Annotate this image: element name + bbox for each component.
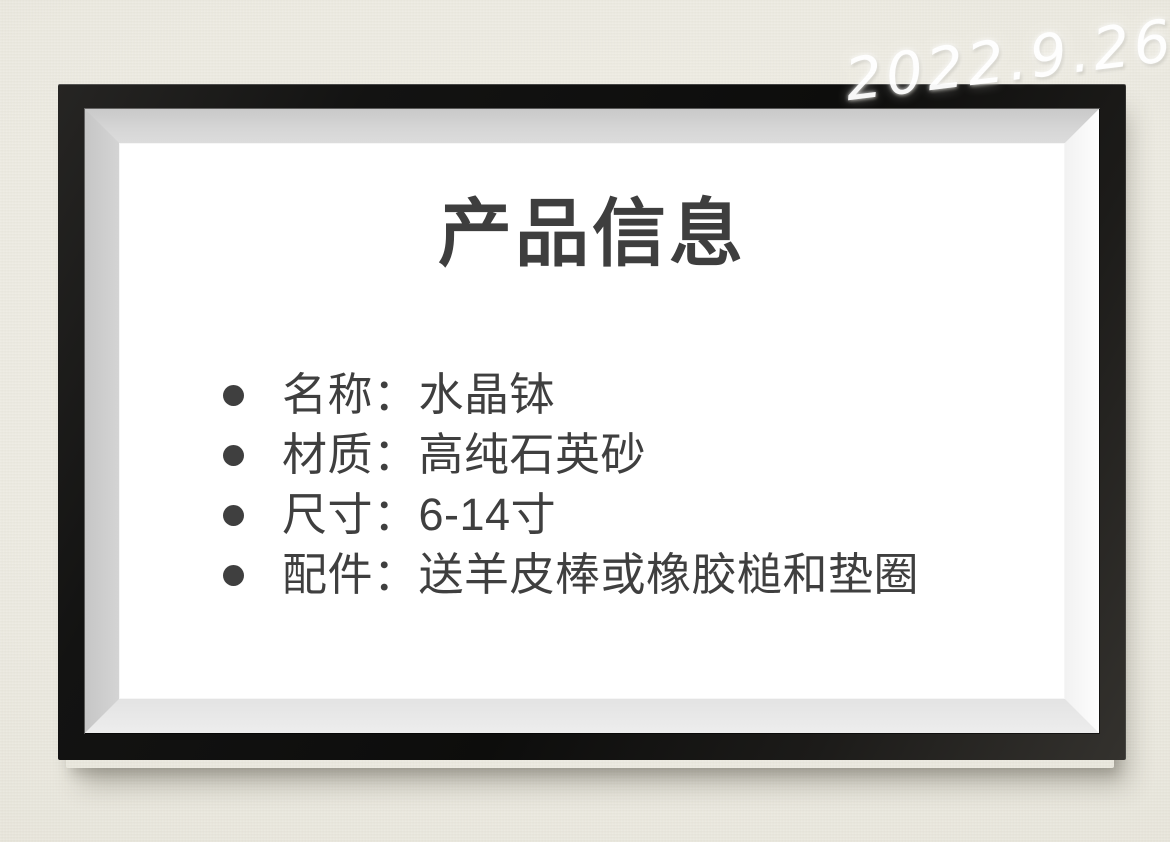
mat-bevel-bottom [85,699,1099,733]
bullet-dot-icon [223,445,244,466]
list-item: 材质：高纯石英砂 [223,425,1025,485]
mat-bevel-left [85,109,119,733]
mat-bevel-right [1065,109,1099,733]
bullet-dot-icon [223,385,244,406]
page-title: 产品信息 [119,197,1065,271]
frame-mat: 产品信息 名称：水晶钵 材质：高纯石英砂 尺寸：6-14寸 [85,109,1099,733]
list-item: 配件：送羊皮棒或橡胶槌和垫圈 [223,545,1025,605]
product-size-text: 尺寸：6-14寸 [282,490,556,540]
mat-bevel-top [85,109,1099,143]
product-name-text: 名称：水晶钵 [282,370,555,420]
picture-frame: 产品信息 名称：水晶钵 材质：高纯石英砂 尺寸：6-14寸 [58,84,1126,760]
product-accessories-text: 配件：送羊皮棒或橡胶槌和垫圈 [282,550,919,600]
wall-background: 产品信息 名称：水晶钵 材质：高纯石英砂 尺寸：6-14寸 [0,0,1170,842]
bullet-dot-icon [223,565,244,586]
list-item: 名称：水晶钵 [223,365,1025,425]
product-info-slide: 产品信息 名称：水晶钵 材质：高纯石英砂 尺寸：6-14寸 [119,143,1065,699]
bullet-dot-icon [223,505,244,526]
product-material-text: 材质：高纯石英砂 [282,430,646,480]
list-item: 尺寸：6-14寸 [223,485,1025,545]
product-info-list: 名称：水晶钵 材质：高纯石英砂 尺寸：6-14寸 配件：送羊皮棒或橡胶槌和垫圈 [223,365,1025,605]
